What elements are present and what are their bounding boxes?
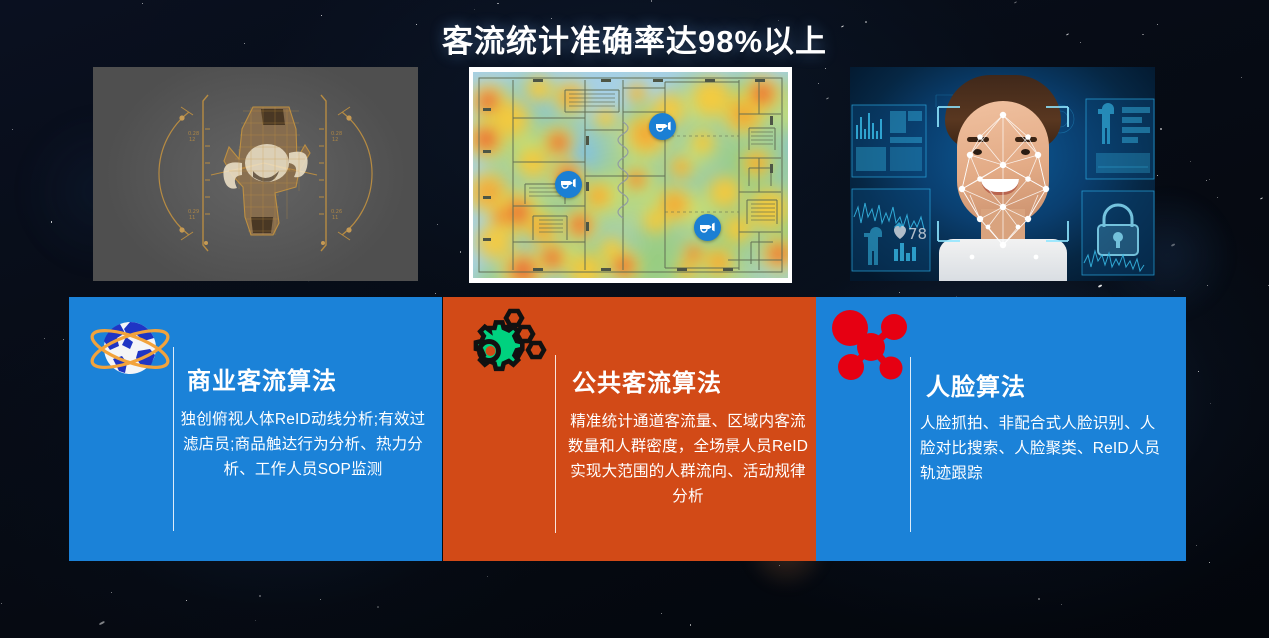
card-public[interactable]: 公共客流算法 精准统计通道客流量、区域内客流数量和人群密度，全场景人员ReID实… xyxy=(443,297,816,561)
wireframe-graphic: 0.2812 0.2812 0.2911 0.2611 xyxy=(93,67,418,281)
card-divider xyxy=(555,355,556,533)
camera-marker[interactable] xyxy=(555,171,582,198)
floorplan-lines xyxy=(473,72,788,278)
card-title: 人脸算法 xyxy=(926,367,1026,402)
card-face[interactable]: 人脸算法 人脸抓拍、非配合式人脸识别、人脸对比搜索、人脸聚类、ReID人员轨迹跟… xyxy=(816,297,1186,561)
image-floorplan-heatmap xyxy=(469,67,792,283)
card-divider xyxy=(910,357,911,532)
gear-honeycomb-icon xyxy=(455,305,551,389)
camera-marker[interactable] xyxy=(694,214,721,241)
globe-orbit-icon xyxy=(86,315,174,387)
slide-root: 客流统计准确率达98%以上 xyxy=(0,0,1269,638)
svg-text:11: 11 xyxy=(189,215,195,221)
image-overhead-reid-wireframe: 0.2812 0.2812 0.2911 0.2611 xyxy=(93,67,418,281)
card-body: 人脸抓拍、非配合式人脸识别、人脸对比搜索、人脸聚类、ReID人员轨迹跟踪 xyxy=(920,411,1168,486)
card-title: 商业客流算法 xyxy=(187,361,337,396)
card-body: 精准统计通道客流量、区域内客流数量和人群密度，全场景人员ReID实现大范围的人群… xyxy=(563,409,813,509)
page-title: 客流统计准确率达98%以上 xyxy=(0,16,1269,61)
card-body: 独创俯视人体ReID动线分析;有效过滤店员;商品触达行为分析、热力分析、工作人员… xyxy=(179,407,427,482)
card-divider xyxy=(173,347,174,531)
card-commercial[interactable]: 商业客流算法 独创俯视人体ReID动线分析;有效过滤店员;商品触达行为分析、热力… xyxy=(69,297,442,561)
face-mesh-overlay xyxy=(850,67,1155,281)
svg-text:11: 11 xyxy=(332,215,338,221)
node-network-icon xyxy=(824,305,916,387)
image-face-recognition-hud: 78 xyxy=(850,67,1155,281)
card-title: 公共客流算法 xyxy=(572,363,722,398)
svg-text:12: 12 xyxy=(332,137,338,143)
heatmap-canvas xyxy=(473,72,788,278)
svg-text:12: 12 xyxy=(189,137,195,143)
